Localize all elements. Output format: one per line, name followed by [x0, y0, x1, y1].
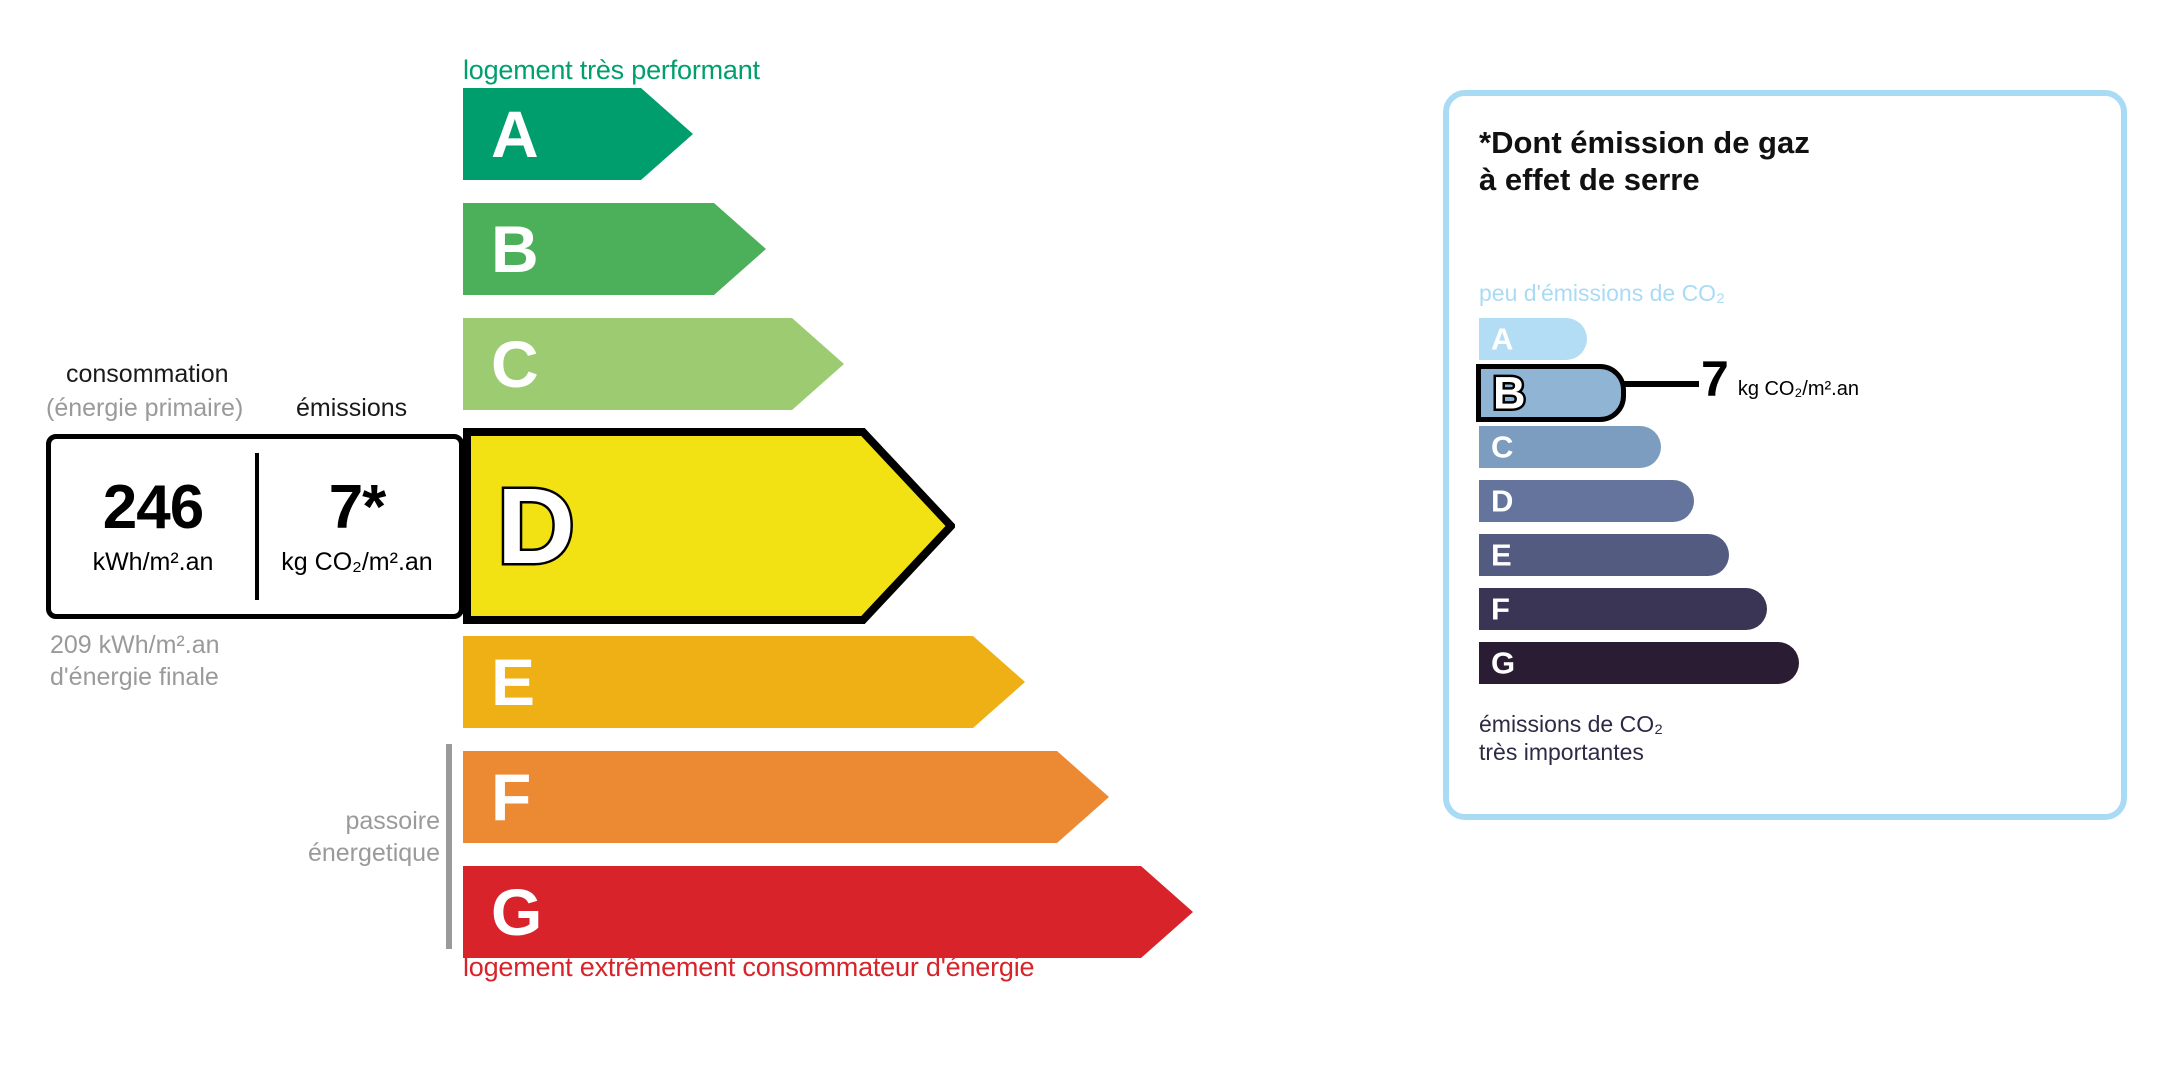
dpe-energy-label: logement très performant consommation (é…	[0, 0, 2170, 1079]
co2-letter-b: B	[1493, 371, 1526, 416]
co2-value-unit: kg CO₂/m².an	[1738, 378, 1859, 401]
passoire-label: passoire énergetique	[200, 806, 440, 869]
co2-top-caption: peu d'émissions de CO₂	[1479, 280, 1725, 307]
final-energy-note: 209 kWh/m².an d'énergie finale	[50, 630, 220, 693]
co2-letter-f: F	[1491, 594, 1510, 625]
energy-consumption-panel: logement très performant consommation (é…	[0, 0, 1400, 1079]
co2-bottom-caption: émissions de CO₂ très importantes	[1479, 711, 1663, 766]
energy-arrow-f	[463, 751, 1109, 843]
consumption-unit: kWh/m².an	[93, 548, 214, 577]
energy-arrow-e	[463, 636, 1025, 728]
energy-row-b: B	[463, 203, 766, 295]
energy-value-box: 246 kWh/m².an 7* kg CO₂/m².an	[46, 434, 464, 619]
co2-letter-e: E	[1491, 540, 1512, 571]
energy-row-d-selected: D	[463, 428, 955, 624]
co2-bar-f	[1479, 588, 1767, 630]
passoire-bracket	[446, 744, 452, 949]
energy-letter-d: D	[497, 472, 575, 580]
consumption-value: 246	[103, 477, 203, 539]
energy-letter-c: C	[491, 331, 539, 397]
co2-row-a: A	[1479, 318, 1587, 360]
energy-top-caption: logement très performant	[463, 55, 760, 86]
energy-letter-g: G	[491, 879, 542, 945]
consumption-sublabel: (énergie primaire)	[46, 394, 243, 423]
energy-arrow-g	[463, 866, 1193, 958]
co2-letter-c: C	[1491, 432, 1513, 463]
co2-letter-a: A	[1491, 324, 1513, 355]
energy-row-c: C	[463, 318, 844, 410]
energy-row-a: A	[463, 88, 693, 180]
co2-value-number: 7	[1701, 354, 1729, 404]
co2-value-callout: 7 kg CO₂/m².an	[1701, 354, 1859, 404]
energy-row-e: E	[463, 636, 1025, 728]
energy-bottom-caption: logement extrêmement consommateur d'éner…	[463, 952, 1034, 983]
energy-row-g: G	[463, 866, 1193, 958]
co2-letter-d: D	[1491, 486, 1513, 517]
energy-letter-f: F	[491, 764, 531, 830]
co2-row-f: F	[1479, 588, 1767, 630]
emissions-unit: kg CO₂/m².an	[281, 548, 432, 577]
emissions-value: 7*	[329, 477, 386, 539]
energy-row-f: F	[463, 751, 1109, 843]
co2-row-g: G	[1479, 642, 1799, 684]
co2-letter-g: G	[1491, 648, 1515, 679]
emissions-cell: 7* kg CO₂/m².an	[255, 439, 459, 614]
co2-row-e: E	[1479, 534, 1729, 576]
energy-letter-e: E	[491, 649, 535, 715]
co2-panel-title: *Dont émission de gaz à effet de serre	[1479, 124, 1810, 198]
co2-bar-e	[1479, 534, 1729, 576]
co2-row-b-selected: B	[1479, 372, 1624, 414]
energy-letter-b: B	[491, 216, 539, 282]
co2-emissions-panel: *Dont émission de gaz à effet de serre p…	[1443, 90, 2127, 820]
consumption-label: consommation	[66, 360, 229, 389]
emissions-label: émissions	[296, 394, 407, 423]
co2-bar-g	[1479, 642, 1799, 684]
co2-leader-line	[1621, 381, 1699, 387]
co2-row-c: C	[1479, 426, 1661, 468]
consumption-cell: 246 kWh/m².an	[51, 439, 255, 614]
energy-letter-a: A	[491, 101, 539, 167]
co2-row-d: D	[1479, 480, 1694, 522]
